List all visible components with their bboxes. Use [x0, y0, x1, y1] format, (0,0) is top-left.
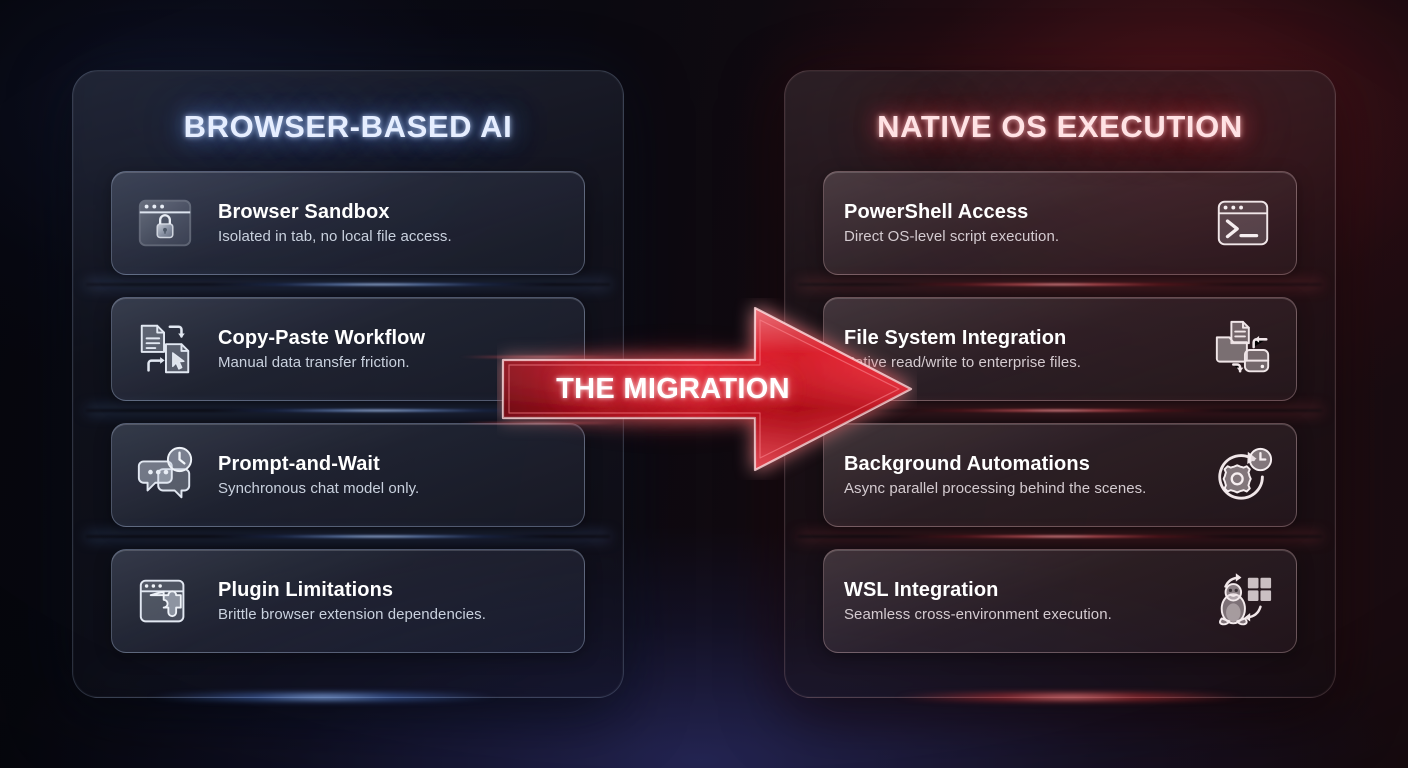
folder-drive-sync-icon: [1210, 318, 1276, 380]
card-description: Seamless cross-environment execution.: [844, 605, 1190, 625]
card-text: File System Integration Native read/writ…: [844, 326, 1190, 373]
card-browser-sandbox[interactable]: Browser Sandbox Isolated in tab, no loca…: [111, 171, 585, 275]
card-description: Native read/write to enterprise files.: [844, 353, 1190, 373]
card-powershell-access[interactable]: PowerShell Access Direct OS-level script…: [823, 171, 1297, 275]
card-copy-paste-workflow[interactable]: Copy-Paste Workflow Manual data transfer…: [111, 297, 585, 401]
card-title: Prompt-and-Wait: [218, 452, 564, 476]
card-text: PowerShell Access Direct OS-level script…: [844, 200, 1190, 247]
card-description: Isolated in tab, no local file access.: [218, 227, 564, 247]
card-description: Brittle browser extension dependencies.: [218, 605, 564, 625]
card-title: File System Integration: [844, 326, 1190, 350]
card-plugin-limitations[interactable]: Plugin Limitations Brittle browser exten…: [111, 549, 585, 653]
card-text: Browser Sandbox Isolated in tab, no loca…: [218, 200, 564, 247]
panel-underglow: [95, 692, 601, 702]
card-title: PowerShell Access: [844, 200, 1190, 224]
terminal-prompt-icon: [1210, 192, 1276, 254]
browser-lock-icon: [132, 192, 198, 254]
card-wsl-integration[interactable]: WSL Integration Seamless cross-environme…: [823, 549, 1297, 653]
panel-underglow: [807, 692, 1313, 702]
card-text: Background Automations Async parallel pr…: [844, 452, 1190, 499]
copy-paste-documents-icon: [132, 318, 198, 380]
card-title: Plugin Limitations: [218, 578, 564, 602]
native-os-execution-panel: NATIVE OS EXECUTION PowerShel: [784, 70, 1336, 698]
light-streak: [86, 283, 610, 286]
card-title: WSL Integration: [844, 578, 1190, 602]
card-description: Manual data transfer friction.: [218, 353, 564, 373]
card-text: Plugin Limitations Brittle browser exten…: [218, 578, 564, 625]
card-text: Copy-Paste Workflow Manual data transfer…: [218, 326, 564, 373]
infographic-canvas: BROWSER-BASED AI: [0, 0, 1408, 768]
card-title: Copy-Paste Workflow: [218, 326, 564, 350]
card-description: Async parallel processing behind the sce…: [844, 479, 1190, 499]
chat-bubbles-clock-icon: [132, 444, 198, 506]
light-streak: [798, 409, 1322, 412]
browser-based-ai-panel: BROWSER-BASED AI: [72, 70, 624, 698]
card-description: Synchronous chat model only.: [218, 479, 564, 499]
card-text: WSL Integration Seamless cross-environme…: [844, 578, 1190, 625]
right-card-list: PowerShell Access Direct OS-level script…: [823, 171, 1297, 653]
card-background-automations[interactable]: Background Automations Async parallel pr…: [823, 423, 1297, 527]
light-streak: [86, 535, 610, 538]
light-streak: [798, 283, 1322, 286]
light-streak: [798, 535, 1322, 538]
right-panel-title: NATIVE OS EXECUTION: [823, 71, 1297, 171]
tux-windows-sync-icon: [1210, 570, 1276, 632]
card-file-system-integration[interactable]: File System Integration Native read/writ…: [823, 297, 1297, 401]
card-text: Prompt-and-Wait Synchronous chat model o…: [218, 452, 564, 499]
gear-clock-refresh-icon: [1210, 444, 1276, 506]
card-title: Background Automations: [844, 452, 1190, 476]
browser-puzzle-piece-icon: [132, 570, 198, 632]
light-streak: [86, 409, 610, 412]
card-description: Direct OS-level script execution.: [844, 227, 1190, 247]
card-prompt-and-wait[interactable]: Prompt-and-Wait Synchronous chat model o…: [111, 423, 585, 527]
left-panel-title: BROWSER-BASED AI: [111, 71, 585, 171]
left-card-list: Browser Sandbox Isolated in tab, no loca…: [111, 171, 585, 653]
card-title: Browser Sandbox: [218, 200, 564, 224]
